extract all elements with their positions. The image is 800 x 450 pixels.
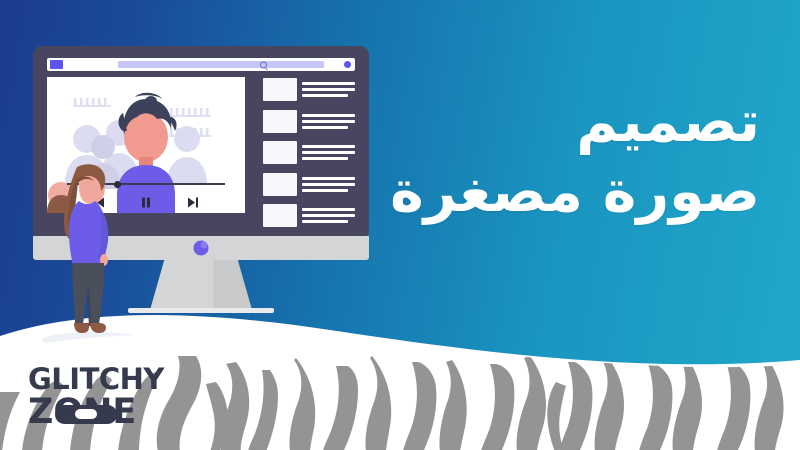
- monitor-stand-base: [128, 308, 274, 313]
- suggestion-thumbnail[interactable]: [263, 110, 297, 133]
- suggestion-thumbnail[interactable]: [263, 204, 297, 227]
- text-line: [302, 82, 355, 85]
- brand-logo[interactable]: GLITCHY ZONE: [28, 366, 198, 429]
- suggestion-thumbnail[interactable]: [263, 173, 297, 196]
- search-input[interactable]: [69, 61, 340, 68]
- search-icon[interactable]: [260, 61, 267, 68]
- standing-person-illustration: [57, 163, 119, 335]
- square-tab-icon[interactable]: [50, 60, 63, 69]
- monitor-stand: [150, 260, 252, 310]
- next-track-button[interactable]: [186, 194, 200, 207]
- account-dot-icon[interactable]: [344, 61, 351, 68]
- pause-button[interactable]: [139, 194, 153, 207]
- suggestion-thumbnail[interactable]: [263, 78, 297, 101]
- logo-zone-pill-ligature: [55, 405, 117, 424]
- skip-forward-icon: [186, 196, 200, 209]
- headline-line-1: تصميم: [340, 88, 760, 158]
- headline-line-2: صورة مصغرة: [340, 158, 760, 228]
- logo-word-glitchy: GLITCHY: [28, 366, 198, 394]
- page-title: تصميم صورة مصغرة: [340, 88, 760, 227]
- pause-icon: [139, 196, 153, 209]
- poster-canvas: تصميم صورة مصغرة GLITCHY ZONE: [0, 0, 800, 450]
- logo-word-zone: ZONE: [28, 395, 198, 429]
- monitor-brand-icon: [194, 241, 209, 256]
- suggestion-thumbnail[interactable]: [263, 141, 297, 164]
- search-field-fill: [118, 61, 324, 68]
- browser-toolbar[interactable]: [47, 58, 355, 71]
